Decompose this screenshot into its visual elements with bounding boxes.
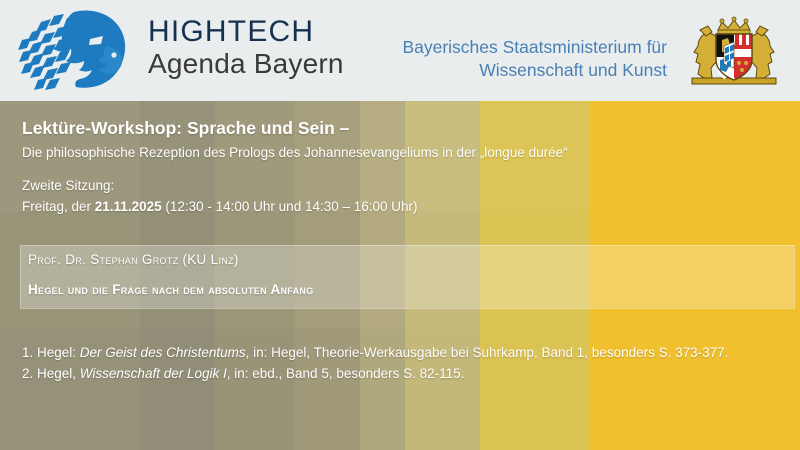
lion-head-icon [14,6,146,94]
ref-2-suffix: , in: ebd., Band 5, besonders S. 82-115. [227,366,465,381]
title-block: Lektüre-Workshop: Sprache und Sein – Die… [22,117,782,163]
session-label: Zweite Sitzung: [22,175,622,196]
speaker-topic: Hegel und die Frage nach dem absoluten A… [28,282,314,297]
bavarian-coat-of-arms-icon [678,12,790,90]
brand-wordmark: HIGHTECH Agenda Bayern [148,16,338,80]
page-title: Lektüre-Workshop: Sprache und Sein – [22,117,782,140]
ministry-line-2: Wissenschaft und Kunst [352,59,667,82]
header-bar: HIGHTECH Agenda Bayern Bayerisches Staat… [0,0,800,101]
ref-2-prefix: 2. Hegel, [22,366,80,381]
brand-line-hightech: HIGHTECH [148,16,338,48]
poster-content: Lektüre-Workshop: Sprache und Sein – Die… [0,101,800,450]
ref-1-suffix: , in: Hegel, Theorie-Werkausgabe bei Suh… [246,345,729,360]
poster-root: HIGHTECH Agenda Bayern Bayerisches Staat… [0,0,800,450]
ref-1-title: Der Geist des Christentums [80,345,246,360]
session-block: Zweite Sitzung: Freitag, der 21.11.2025 … [22,175,622,217]
ref-2-title: Wissenschaft der Logik I [80,366,227,381]
brand-line-agenda: Agenda Bayern [148,48,338,80]
ministry-title: Bayerisches Staatsministerium für Wissen… [352,36,667,82]
reference-list: 1. Hegel: Der Geist des Christentums, in… [22,342,782,384]
session-prefix: Freitag, der [22,199,95,214]
page-subtitle: Die philosophische Rezeption des Prologs… [22,143,782,163]
ministry-line-1: Bayerisches Staatsministerium für [352,36,667,59]
ref-1-prefix: 1. Hegel: [22,345,80,360]
session-date: 21.11.2025 [95,199,162,214]
session-datetime: Freitag, der 21.11.2025 (12:30 - 14:00 U… [22,196,622,217]
reference-item-2: 2. Hegel, Wissenschaft der Logik I, in: … [22,363,782,384]
speaker-name: Prof. Dr. Stephan Grotz (KU Linz) [28,252,239,267]
reference-item-1: 1. Hegel: Der Geist des Christentums, in… [22,342,782,363]
session-suffix: (12:30 - 14:00 Uhr und 14:30 – 16:00 Uhr… [162,199,418,214]
